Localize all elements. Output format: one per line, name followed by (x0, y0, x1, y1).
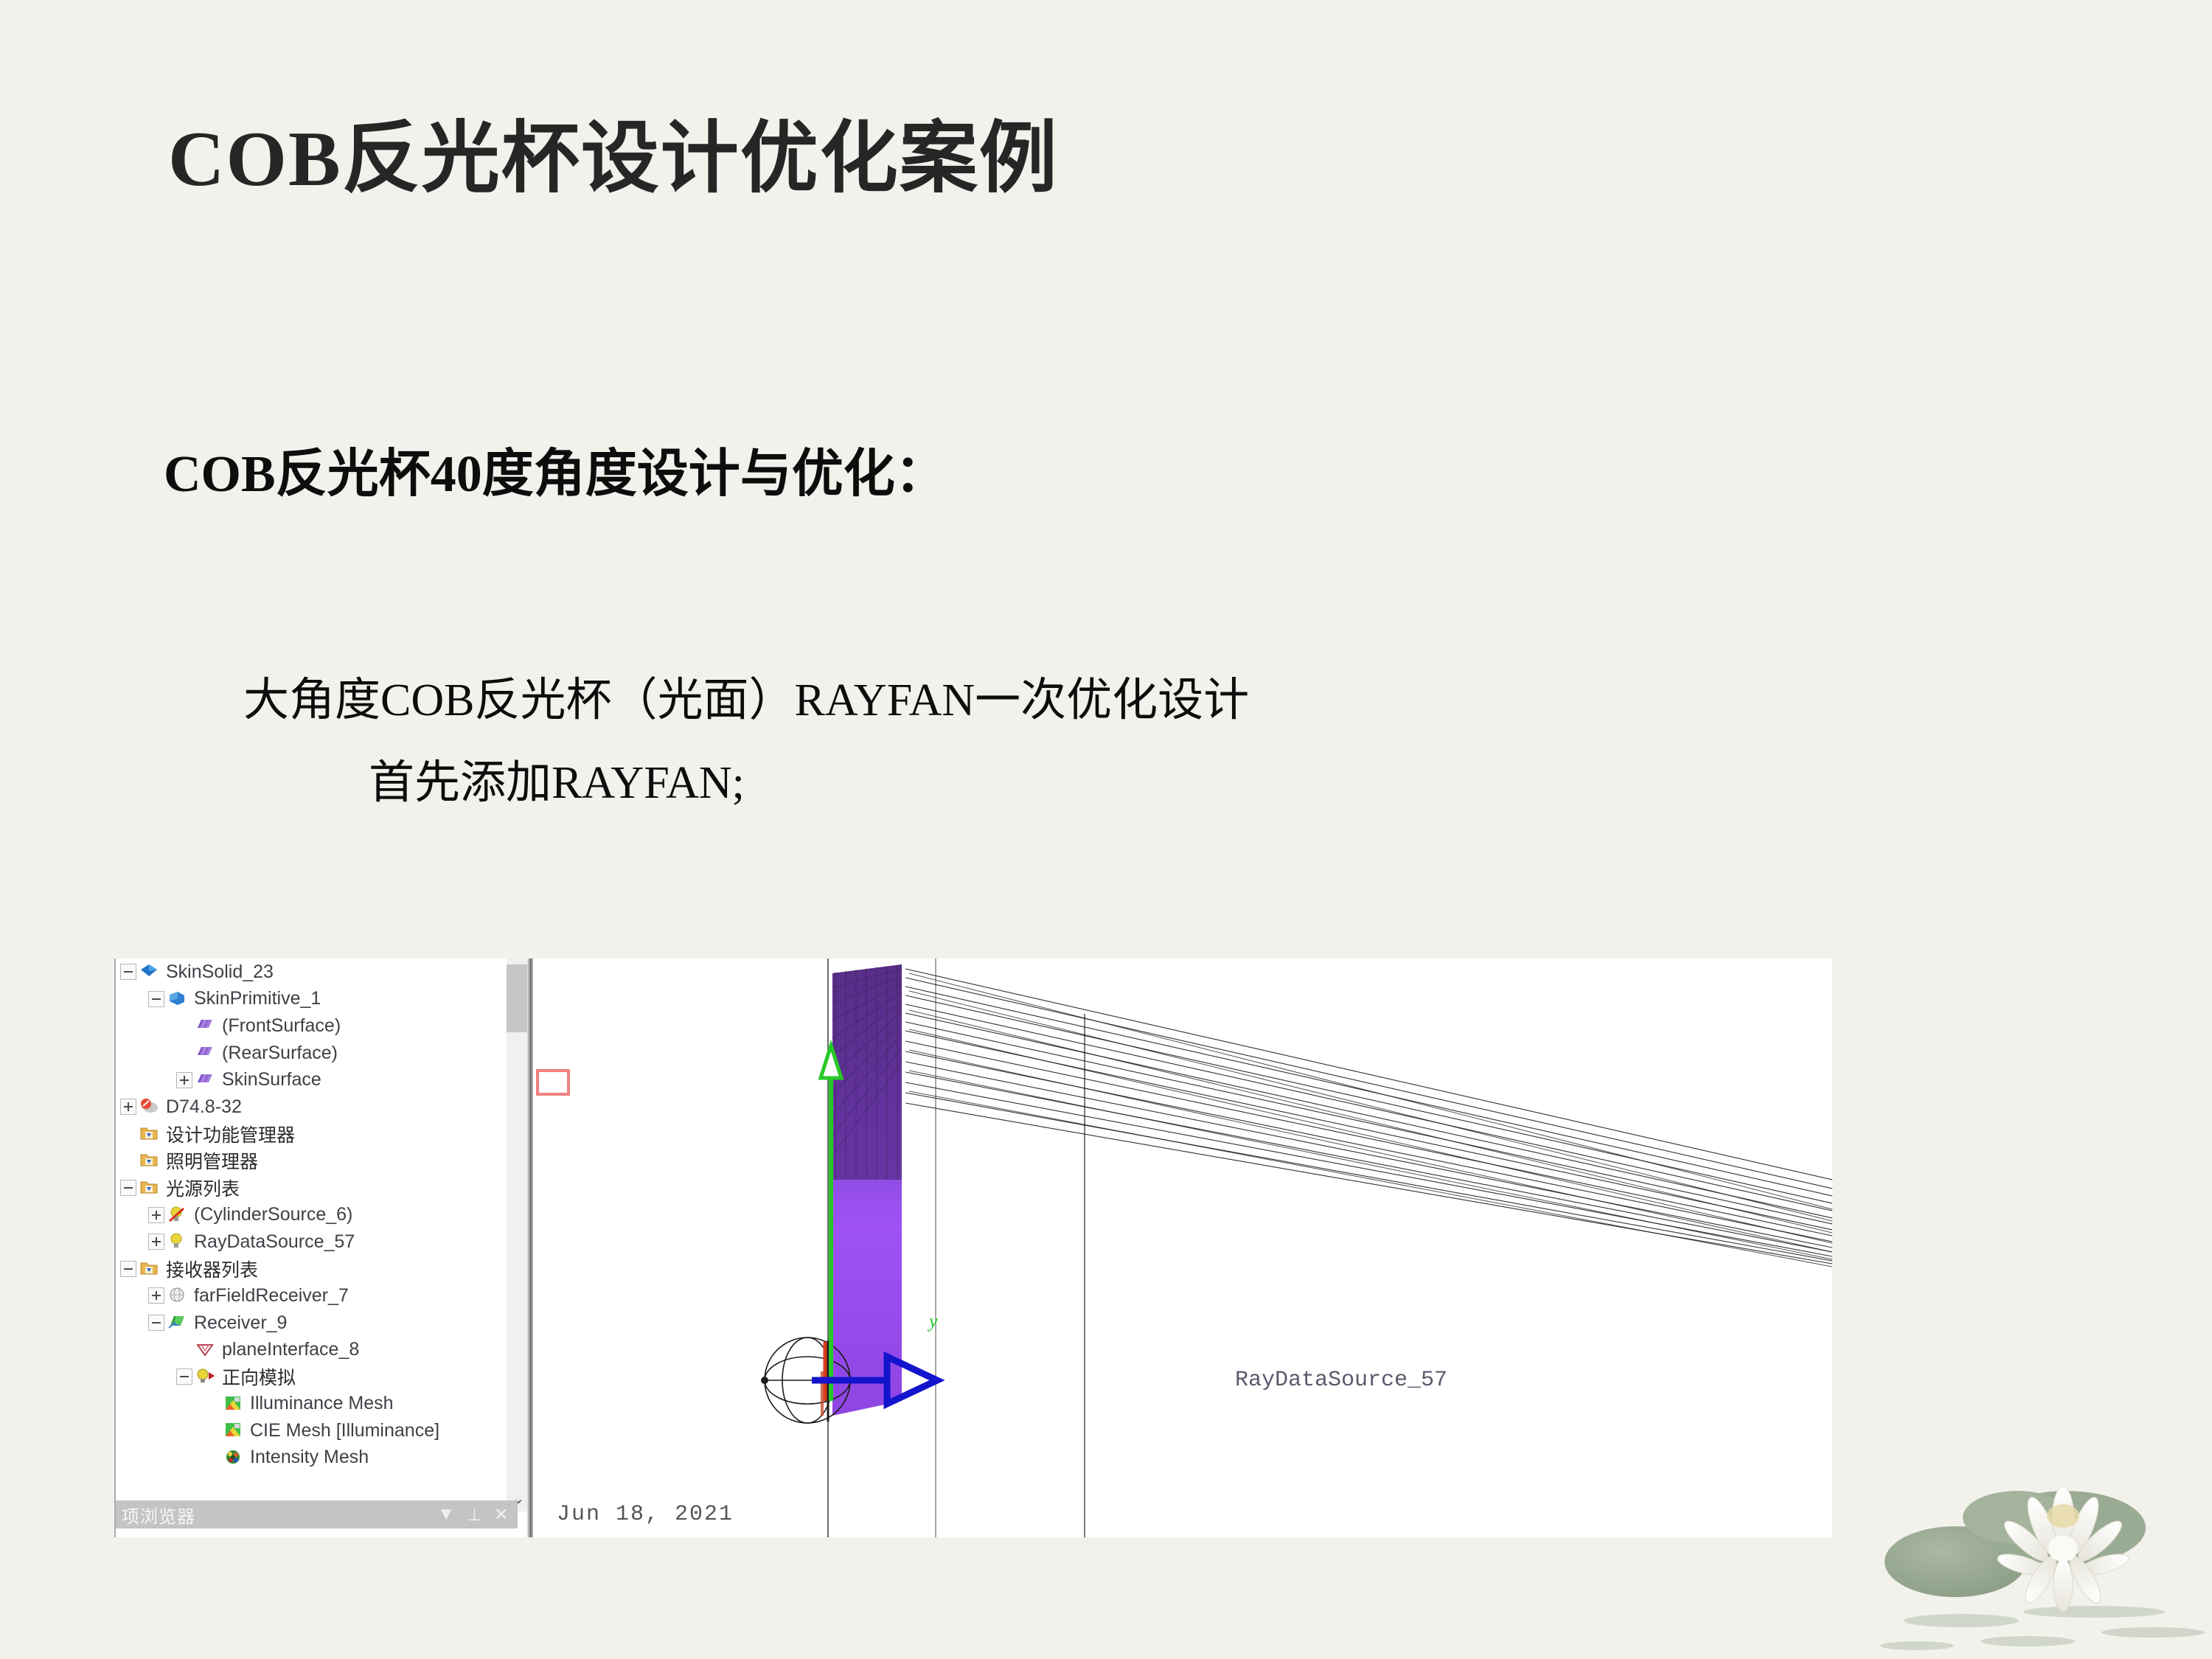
collapse-icon[interactable] (120, 964, 136, 980)
tree-item[interactable]: 设计功能管理器 (116, 1121, 518, 1148)
tree-item-label: farFieldReceiver_7 (189, 1285, 349, 1307)
collapse-icon[interactable] (120, 1261, 136, 1277)
tree-item[interactable]: D74.8-32 (116, 1093, 518, 1121)
red-lens-icon (139, 1097, 160, 1116)
tree-item[interactable]: SkinPrimitive_1 (116, 986, 518, 1013)
water-lily-decoration (1873, 1475, 2212, 1659)
tree-item[interactable]: SkinSurface (116, 1066, 518, 1093)
purple-surface-icon (195, 1071, 216, 1090)
tree-item[interactable]: Illuminance Mesh (116, 1391, 518, 1418)
panel-title: 项浏览器 (116, 1502, 195, 1528)
folder-icon (139, 1178, 160, 1197)
tree-item-label: 光源列表 (161, 1175, 240, 1201)
tree-item[interactable]: (CylinderSource_6) (116, 1201, 518, 1228)
bulb-icon (167, 1232, 188, 1251)
folder-icon (139, 1259, 160, 1279)
body-text-line-2: 首先添加RAYFAN; (369, 745, 745, 811)
page-title: COB反光杯设计优化案例 (168, 94, 1059, 208)
intensity-icon (223, 1448, 244, 1467)
tree-item[interactable]: RayDataSource_57 (116, 1228, 518, 1256)
blue-primitive-icon (167, 990, 188, 1009)
tree-item-label: 正向模拟 (218, 1363, 296, 1390)
tree-spacer (176, 1018, 192, 1034)
tree-spacer (204, 1450, 220, 1466)
tree-item[interactable]: Receiver_9 (116, 1310, 518, 1337)
tree-item[interactable]: farFieldReceiver_7 (116, 1282, 518, 1310)
embedded-app-screenshot: SkinSolid_23SkinPrimitive_1(FrontSurface… (114, 959, 1832, 1537)
ray-source-label: RayDataSource_57 (1235, 1368, 1447, 1393)
expand-icon[interactable] (148, 1207, 164, 1223)
tree-spacer (120, 1152, 136, 1169)
tree-scroll-area[interactable]: SkinSolid_23SkinPrimitive_1(FrontSurface… (116, 959, 518, 1484)
project-browser-panel: SkinSolid_23SkinPrimitive_1(FrontSurface… (114, 959, 542, 1537)
purple-surface-icon (195, 1043, 216, 1062)
3d-viewport[interactable]: y RayDataSource_57 Jun 18, 2021 (533, 959, 1832, 1537)
tree-item[interactable]: 接收器列表 (116, 1256, 518, 1283)
collapse-icon[interactable] (148, 991, 164, 1007)
tree-spacer (120, 1126, 136, 1142)
tree-item-label: (RearSurface) (218, 1043, 338, 1064)
tree-item[interactable]: CIE Mesh [Illuminance] (116, 1417, 518, 1444)
viewport-render (533, 959, 1832, 1537)
panel-footer-bar: 项浏览器 ▼ ⊥ ✕ (116, 1500, 518, 1528)
body-text-line-1: 大角度COB反光杯（光面）RAYFAN一次优化设计 (243, 662, 1249, 728)
tree-item[interactable]: (FrontSurface) (116, 1012, 518, 1040)
tree-item-label: RayDataSource_57 (189, 1231, 355, 1253)
close-icon[interactable]: ✕ (494, 1504, 509, 1526)
tree-item-label: Illuminance Mesh (246, 1393, 394, 1414)
section-heading: COB反光杯40度角度设计与优化： (164, 432, 947, 507)
panel-splitter[interactable] (527, 959, 533, 1537)
tree-item-label: SkinSolid_23 (161, 961, 274, 983)
tree-item[interactable]: 光源列表 (116, 1175, 518, 1202)
tree-item[interactable]: 正向模拟 (116, 1363, 518, 1391)
tree-spacer (204, 1396, 220, 1412)
collapse-icon[interactable] (120, 1180, 136, 1196)
mesh-icon (223, 1421, 244, 1440)
purple-surface-icon (195, 1016, 216, 1035)
expand-icon[interactable] (176, 1072, 192, 1088)
plane-interface-icon (195, 1340, 216, 1360)
tree-item-label: D74.8-32 (161, 1096, 242, 1118)
tree-spacer (204, 1422, 220, 1439)
sphere-icon (167, 1286, 188, 1305)
mesh-icon (223, 1394, 244, 1413)
pin-icon[interactable]: ⊥ (467, 1504, 482, 1526)
tree-item-label: Receiver_9 (189, 1312, 287, 1334)
chevron-down-icon[interactable]: ▼ (437, 1504, 455, 1526)
viewport-date-stamp: Jun 18, 2021 (557, 1502, 734, 1527)
tree-spacer (176, 1342, 192, 1358)
collapse-icon[interactable] (148, 1315, 164, 1331)
axis-y-label: y (929, 1310, 938, 1332)
tree-item-label: 接收器列表 (161, 1256, 258, 1282)
tree-item-label: 照明管理器 (161, 1147, 258, 1174)
bulb-arrow-icon (195, 1367, 216, 1386)
green-receiver-icon (167, 1313, 188, 1332)
object-tree[interactable]: SkinSolid_23SkinPrimitive_1(FrontSurface… (116, 959, 518, 1471)
tree-item[interactable]: 照明管理器 (116, 1147, 518, 1175)
tree-spacer (176, 1045, 192, 1061)
tree-item[interactable]: SkinSolid_23 (116, 959, 518, 986)
tree-item-label: planeInterface_8 (218, 1339, 359, 1360)
tree-item[interactable]: (RearSurface) (116, 1040, 518, 1067)
expand-icon[interactable] (148, 1234, 164, 1250)
tree-item[interactable]: Intensity Mesh (116, 1444, 518, 1472)
tree-item-label: CIE Mesh [Illuminance] (246, 1420, 439, 1441)
blue-solid-icon (139, 962, 160, 981)
tree-item-label: 设计功能管理器 (161, 1121, 295, 1147)
expand-icon[interactable] (148, 1287, 164, 1304)
tree-item-label: SkinPrimitive_1 (189, 988, 321, 1009)
tree-item[interactable]: planeInterface_8 (116, 1336, 518, 1363)
folder-icon (139, 1124, 160, 1144)
tree-item-label: (CylinderSource_6) (189, 1204, 352, 1225)
tree-item-label: SkinSurface (218, 1069, 321, 1091)
bulb-disabled-icon (167, 1206, 188, 1225)
folder-icon (139, 1151, 160, 1170)
selection-marker[interactable] (536, 1069, 570, 1096)
collapse-icon[interactable] (176, 1368, 192, 1385)
tree-item-label: (FrontSurface) (218, 1015, 341, 1037)
tree-item-label: Intensity Mesh (246, 1447, 369, 1468)
expand-icon[interactable] (120, 1099, 136, 1115)
